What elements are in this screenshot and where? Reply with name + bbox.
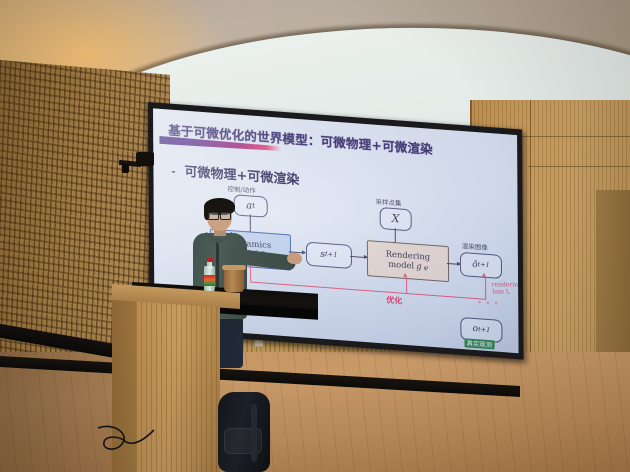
caption-samples: 采样点集 [376,197,402,208]
lecture-hall-photo: 基于可微优化的世界模型：可微物理+可微渲染 - 可微物理+可微渲染 控制/动作 … [0,0,630,472]
rendering-param-subscript: φ [424,265,428,272]
node-predicted-observation: ôt+1 [460,252,502,279]
loss-line-2: loss L [492,289,518,296]
node-next-state: st+1 [306,242,352,269]
floor-cables [96,420,166,460]
optimization-drop-right [406,277,407,293]
label-optimize-right: 优化 [386,295,402,307]
label-rendering-loss: rendering loss L [492,282,519,296]
true-obs-subscript: t+1 [478,326,490,334]
slide-title: 基于可微优化的世界模型：可微物理+可微渲染 [168,119,433,157]
optimization-riser [485,277,486,299]
rendering-param: g [416,262,421,272]
state-subscript: t+1 [325,251,338,259]
backpack-strap [251,404,257,462]
camera-lens [122,164,129,173]
arrow-state-to-rendering [350,256,367,258]
speaker-glasses [208,212,231,218]
badge-ground-truth: 真实观测 [464,338,494,349]
wall-mounted-camera [119,152,155,174]
node-rendering-model: Rendering model gφ [367,240,449,282]
arrow-samples-to-rendering [395,228,396,242]
rendering-line-2: model [388,259,414,270]
caption-action: 控制/动作 [228,184,256,195]
bottle-cap [207,258,213,262]
camera-body [136,152,154,166]
pred-obs-subscript: t+1 [478,262,490,270]
paper-cup-lid [222,265,246,270]
backpack [218,392,270,472]
node-sample-set-symbol: X [392,213,400,226]
caption-rendered-image: 渲染图像 [462,241,488,252]
loss-link-dots: ∘ ∘ ∘ [477,298,499,308]
bullet-dash: - [171,164,175,178]
